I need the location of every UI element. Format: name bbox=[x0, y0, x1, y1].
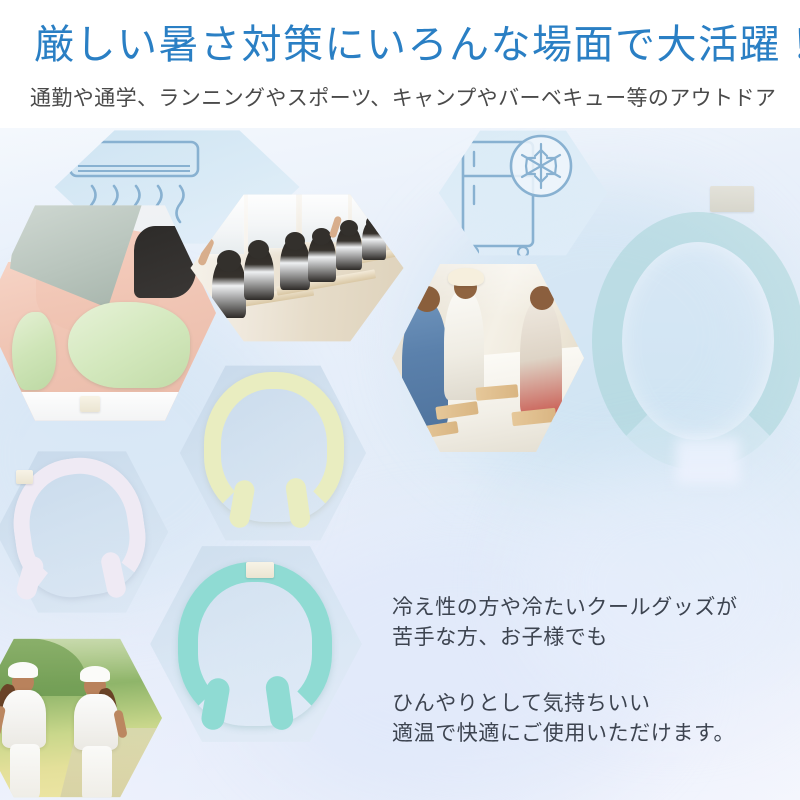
classroom-head-2 bbox=[248, 240, 269, 259]
worn-ring-clasp bbox=[80, 396, 100, 412]
body-text-block-1: 冷え性の方や冷たいクールグッズが 苦手な方、お子様でも bbox=[392, 592, 738, 652]
worn-ring-left bbox=[12, 312, 56, 390]
bbq-person-2 bbox=[444, 290, 484, 400]
jogger-2-cap bbox=[80, 666, 110, 682]
bbq-person-3 bbox=[520, 300, 562, 416]
jogger-1-cap bbox=[8, 662, 38, 678]
product-promo-page: 冷え性の方や冷たいクールグッズが 苦手な方、お子様でも ひんやりとして気持ちいい… bbox=[0, 0, 800, 800]
bbq-sunhat bbox=[448, 268, 484, 286]
jogger-2-body bbox=[74, 694, 118, 750]
body-line-1a: 冷え性の方や冷たいクールグッズが bbox=[392, 592, 738, 622]
jogger-1-legs bbox=[10, 744, 40, 800]
product-ring-large-mint bbox=[592, 212, 800, 470]
background-wash-lower-right bbox=[520, 456, 800, 716]
classroom-head-5 bbox=[340, 220, 358, 236]
classroom-head-4 bbox=[312, 228, 331, 245]
body-line-2b: 適温で快適にご使用いただけます。 bbox=[392, 718, 735, 748]
page-headline: 厳しい暑さ対策にいろんな場面で大活躍！ bbox=[34, 22, 800, 68]
ring-large-fade-mask bbox=[676, 438, 740, 484]
body-text-block-2: ひんやりとして気持ちいい 適温で快適にご使用いただけます。 bbox=[392, 688, 735, 748]
product-ring-lime bbox=[204, 372, 344, 522]
jogger-1-body bbox=[2, 690, 46, 748]
product-ring-white-clasp bbox=[16, 470, 33, 484]
worn-ring-right bbox=[68, 302, 190, 388]
classroom-head-3 bbox=[285, 232, 305, 250]
body-line-1b: 苦手な方、お子様でも bbox=[392, 622, 738, 652]
jogger-2-legs bbox=[82, 746, 112, 800]
product-ring-mint bbox=[178, 562, 332, 726]
classroom-head-1 bbox=[217, 250, 241, 272]
page-subline: 通勤や通学、ランニングやスポーツ、キャンプやバーベキュー等のアウトドア bbox=[30, 84, 800, 112]
product-ring-mint-clasp bbox=[246, 562, 274, 578]
header-band: 厳しい暑さ対策にいろんな場面で大活躍！ 通勤や通学、ランニングやスポーツ、キャン… bbox=[0, 0, 800, 128]
ring-large-clasp bbox=[710, 186, 754, 212]
body-line-2a: ひんやりとして気持ちいい bbox=[392, 688, 735, 718]
